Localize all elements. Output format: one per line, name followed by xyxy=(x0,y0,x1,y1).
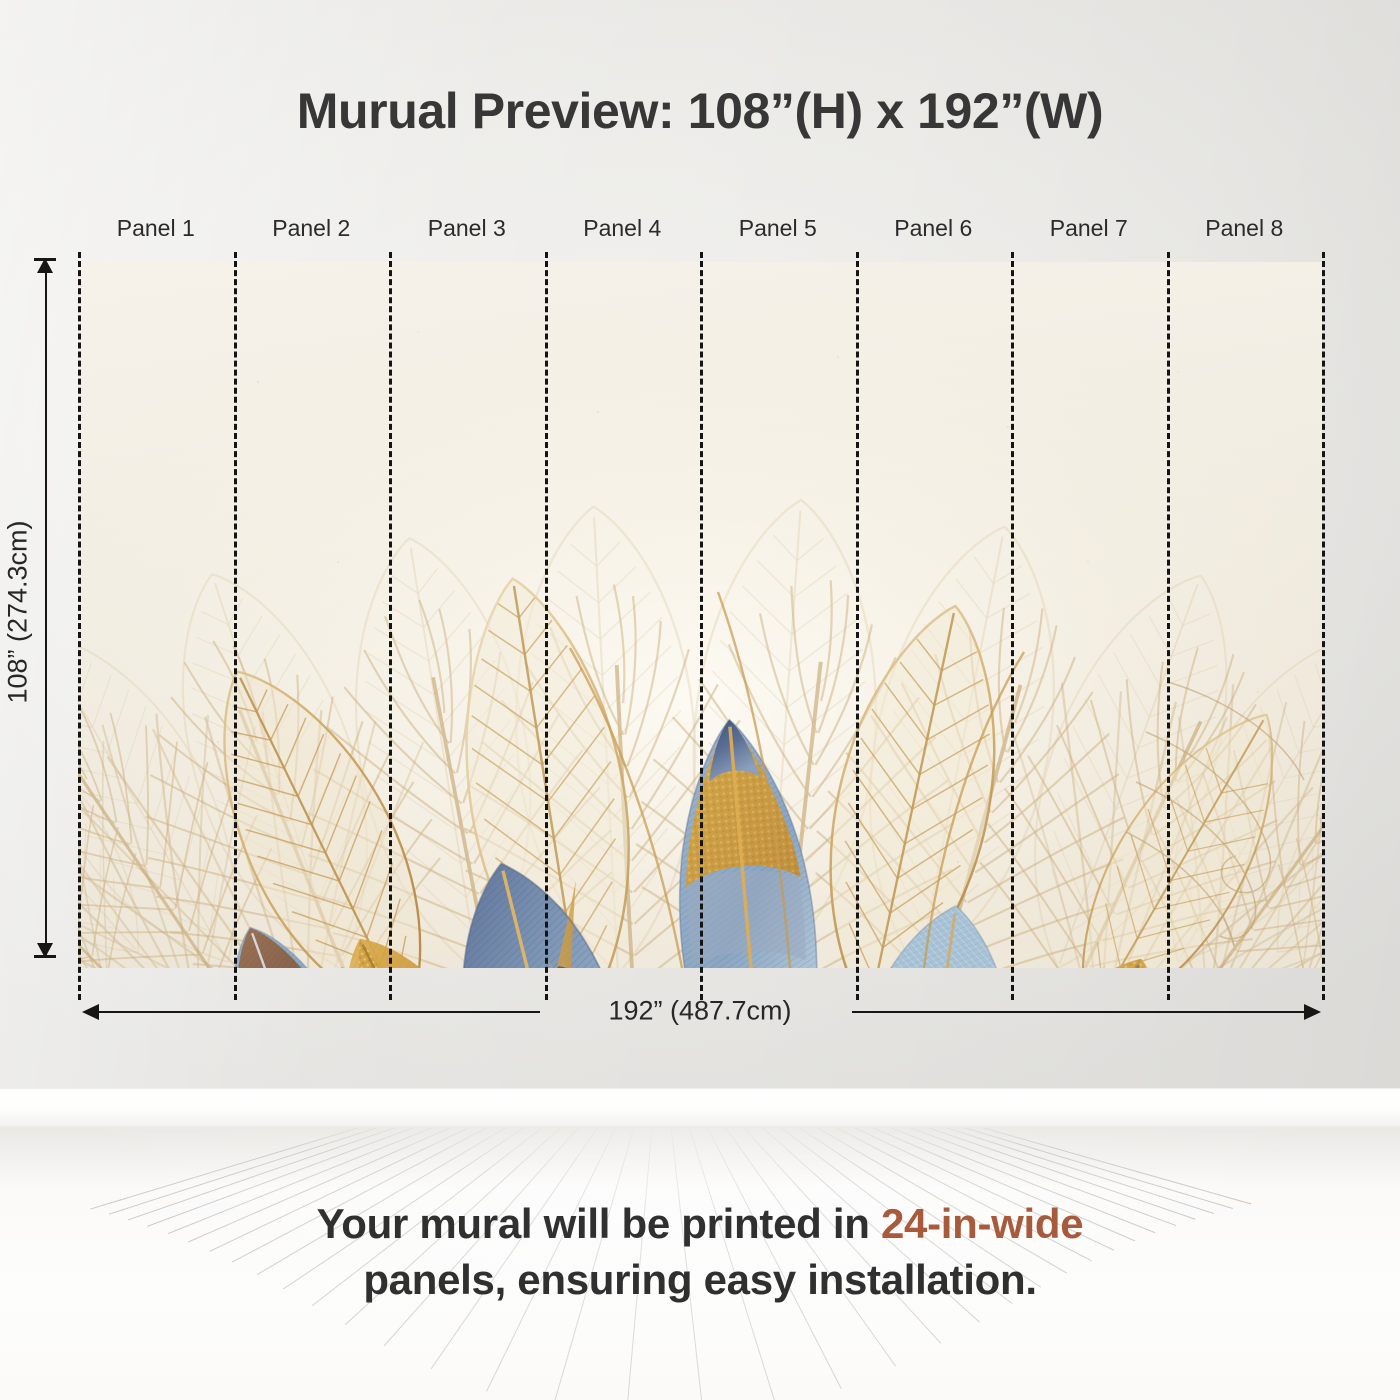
panel-divider-6 xyxy=(1011,252,1014,1000)
caption-highlight: 24-in-wide xyxy=(881,1200,1083,1247)
panel-label-2: Panel 2 xyxy=(272,215,350,242)
panel-label-6: Panel 6 xyxy=(894,215,972,242)
panel-divider-3 xyxy=(545,252,548,1000)
panel-divider-0 xyxy=(78,252,81,1000)
panel-divider-5 xyxy=(856,252,859,1000)
panel-label-7: Panel 7 xyxy=(1050,215,1128,242)
height-dimension-line xyxy=(45,266,47,956)
panel-divider-8 xyxy=(1322,252,1325,1000)
panel-label-8: Panel 8 xyxy=(1205,215,1283,242)
panel-divider-2 xyxy=(389,252,392,1000)
width-dimension-label: 192” (487.7cm) xyxy=(594,996,805,1027)
panel-divider-4 xyxy=(700,252,703,1000)
caption: Your mural will be printed in 24-in-wide… xyxy=(0,1196,1400,1309)
panel-label-1: Panel 1 xyxy=(117,215,195,242)
caption-line-1: Your mural will be printed in 24-in-wide xyxy=(0,1196,1400,1252)
page-title: Murual Preview: 108”(H) x 192”(W) xyxy=(0,82,1400,140)
caption-line-2: panels, ensuring easy installation. xyxy=(0,1252,1400,1308)
panel-label-3: Panel 3 xyxy=(428,215,506,242)
panel-label-5: Panel 5 xyxy=(739,215,817,242)
width-dimension-line-left xyxy=(96,1011,540,1013)
baseboard xyxy=(0,1088,1400,1128)
panel-divider-7 xyxy=(1167,252,1170,1000)
width-dimension-line-right xyxy=(852,1011,1304,1013)
width-dimension-arrow-right xyxy=(1304,1004,1321,1020)
height-dimension-label: 108” (274.3cm) xyxy=(3,520,34,703)
height-dimension-cap-bottom xyxy=(34,955,56,958)
panel-divider-1 xyxy=(234,252,237,1000)
caption-line-1-before: Your mural will be printed in xyxy=(317,1200,881,1247)
mural-preview-page: Murual Preview: 108”(H) x 192”(W) xyxy=(0,0,1400,1400)
panel-label-4: Panel 4 xyxy=(583,215,661,242)
